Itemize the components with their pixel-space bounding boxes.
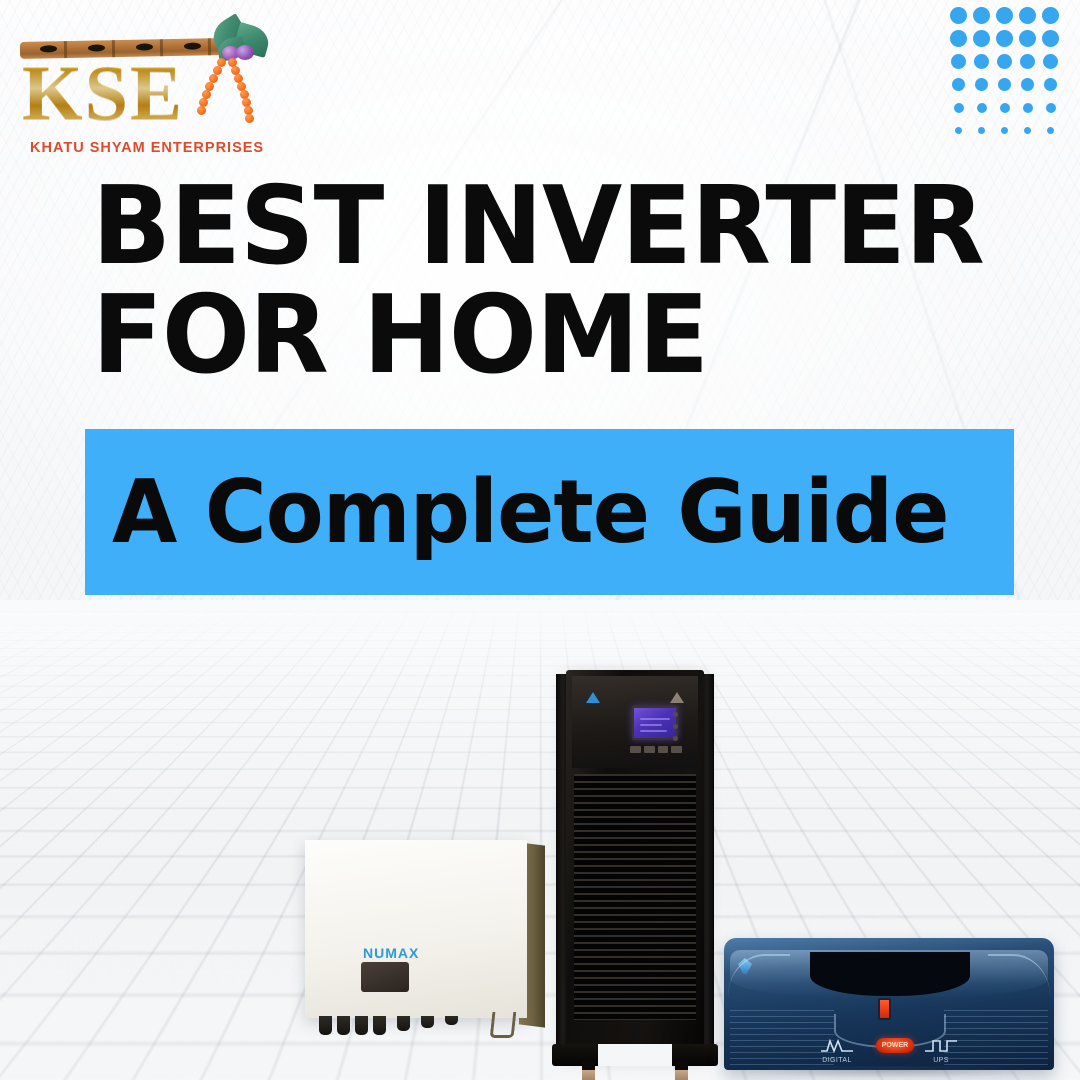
dot-grid-cell <box>1016 127 1039 134</box>
tower-ups-led <box>673 724 678 729</box>
brand-tagline: KHATU SHYAM ENTERPRISES <box>30 140 264 156</box>
dot-grid-cell <box>947 30 970 47</box>
home-inverter-power-lamp: POWER <box>876 1038 914 1053</box>
dot-icon <box>1021 78 1034 91</box>
dot-grid-cell <box>1016 78 1039 91</box>
dot-grid-cell <box>993 78 1016 91</box>
dot-icon <box>978 127 985 134</box>
dot-icon <box>1043 54 1058 69</box>
subtitle-banner: A Complete Guide <box>85 429 1014 595</box>
tower-ups-foot <box>582 1062 595 1080</box>
tower-ups-foot <box>675 1062 688 1080</box>
dot-grid-cell <box>947 127 970 134</box>
sine-wave-icon <box>820 1036 854 1056</box>
dot-grid-row <box>947 27 1062 50</box>
dot-icon <box>1023 103 1033 113</box>
dot-grid-cell <box>1039 7 1062 24</box>
dot-icon <box>977 103 987 113</box>
tower-ups-button-row[interactable] <box>630 746 682 753</box>
product-home-inverter: DIGITAL UPS POWER <box>724 930 1054 1080</box>
solar-inverter-body: NUMAX <box>305 840 527 1018</box>
tower-ups-alert-icon <box>670 692 684 703</box>
tower-ups-logo-icon <box>586 692 600 703</box>
dot-icon <box>1046 103 1056 113</box>
dot-grid-row <box>947 119 1062 142</box>
dot-grid-cell <box>993 54 1016 69</box>
tower-ups-led <box>673 712 678 717</box>
dot-grid-cell <box>993 127 1016 134</box>
tower-ups-button[interactable] <box>630 746 641 753</box>
square-wave-icon <box>924 1036 958 1056</box>
dot-grid-cell <box>1016 103 1039 113</box>
solar-inverter-panel <box>361 962 409 992</box>
tower-ups-button[interactable] <box>644 746 655 753</box>
tower-ups-button[interactable] <box>658 746 669 753</box>
product-solar-inverter: NUMAX <box>305 840 545 1038</box>
dot-icon <box>1000 103 1010 113</box>
solar-inverter-bracket <box>490 1012 517 1038</box>
tower-ups-base-gap <box>598 1044 672 1066</box>
dot-icon <box>1042 7 1059 24</box>
dot-icon <box>952 78 965 91</box>
dot-grid-cell <box>1039 54 1062 69</box>
dot-grid-row <box>947 4 1062 27</box>
tower-ups-button[interactable] <box>671 746 682 753</box>
dot-grid-cell <box>970 103 993 113</box>
dot-icon <box>951 54 966 69</box>
dot-grid-cell <box>1016 7 1039 24</box>
tower-ups-lcd-display <box>632 706 678 740</box>
dot-icon <box>950 7 967 24</box>
home-inverter-body: DIGITAL UPS POWER <box>724 938 1054 1070</box>
dot-icon <box>1042 30 1059 47</box>
dot-icon <box>1047 127 1054 134</box>
home-inverter-top-vent <box>810 952 970 996</box>
home-inverter-indicator-right: UPS <box>924 1036 958 1058</box>
product-tower-ups <box>552 670 718 1080</box>
brand-logo: KSE KHATU SHYAM ENTERPRISES <box>14 14 264 154</box>
dot-icon <box>973 7 990 24</box>
dot-icon <box>1001 127 1008 134</box>
dot-icon <box>974 54 989 69</box>
product-group: NUMAX <box>0 640 1080 1080</box>
headline-line-1: BEST INVERTER <box>92 176 956 279</box>
dot-grid-cell <box>947 78 970 91</box>
dot-grid-row <box>947 96 1062 119</box>
dot-icon <box>954 103 964 113</box>
dot-icon <box>996 7 1013 24</box>
dot-icon <box>1019 30 1036 47</box>
headline-line-2: FOR HOME <box>92 285 956 388</box>
dot-grid-cell <box>947 7 970 24</box>
poster-canvas: KSE KHATU SHYAM ENTERPRISES BEST INVERTE… <box>0 0 1080 1080</box>
dot-grid-cell <box>993 103 1016 113</box>
tower-ups-vent-grill <box>574 774 696 1020</box>
dot-icon <box>973 30 990 47</box>
dot-icon <box>975 78 988 91</box>
dot-icon <box>996 30 1013 47</box>
home-inverter-indicator-left: DIGITAL <box>820 1036 854 1058</box>
dot-grid-cell <box>970 30 993 47</box>
dot-grid-cell <box>1039 30 1062 47</box>
home-inverter-indicator-left-label: DIGITAL <box>809 1057 865 1064</box>
dot-icon <box>1024 127 1031 134</box>
home-inverter-power-switch[interactable] <box>878 998 891 1020</box>
solar-inverter-brand: NUMAX <box>363 945 419 961</box>
dot-grid-decoration <box>947 4 1062 142</box>
dot-grid-cell <box>1016 30 1039 47</box>
dot-grid-cell <box>970 54 993 69</box>
dot-grid-row <box>947 73 1062 96</box>
dot-icon <box>998 78 1011 91</box>
dot-grid-cell <box>1039 103 1062 113</box>
dot-grid-cell <box>947 103 970 113</box>
dot-grid-cell <box>1016 54 1039 69</box>
tower-ups-control-head <box>572 676 698 768</box>
dot-grid-cell <box>1039 78 1062 91</box>
home-inverter-shadow <box>738 1066 1040 1078</box>
dot-grid-cell <box>970 78 993 91</box>
dot-grid-cell <box>1039 127 1062 134</box>
page-title: BEST INVERTER FOR HOME <box>92 176 992 387</box>
dot-icon <box>1020 54 1035 69</box>
dot-icon <box>950 30 967 47</box>
dot-icon <box>997 54 1012 69</box>
dot-grid-cell <box>970 127 993 134</box>
dot-icon <box>1044 78 1057 91</box>
subtitle-text: A Complete Guide <box>112 461 948 563</box>
dot-grid-cell <box>993 30 1016 47</box>
tower-ups-led <box>673 736 678 741</box>
dot-grid-row <box>947 50 1062 73</box>
dot-icon <box>1019 7 1036 24</box>
home-inverter-power-lamp-label: POWER <box>876 1038 914 1053</box>
dot-grid-cell <box>993 7 1016 24</box>
home-inverter-indicator-right-label: UPS <box>913 1057 969 1064</box>
dot-icon <box>955 127 962 134</box>
dot-grid-cell <box>947 54 970 69</box>
dot-grid-cell <box>970 7 993 24</box>
solar-inverter-connectors <box>313 1016 513 1038</box>
brand-monogram: KSE <box>22 54 184 132</box>
